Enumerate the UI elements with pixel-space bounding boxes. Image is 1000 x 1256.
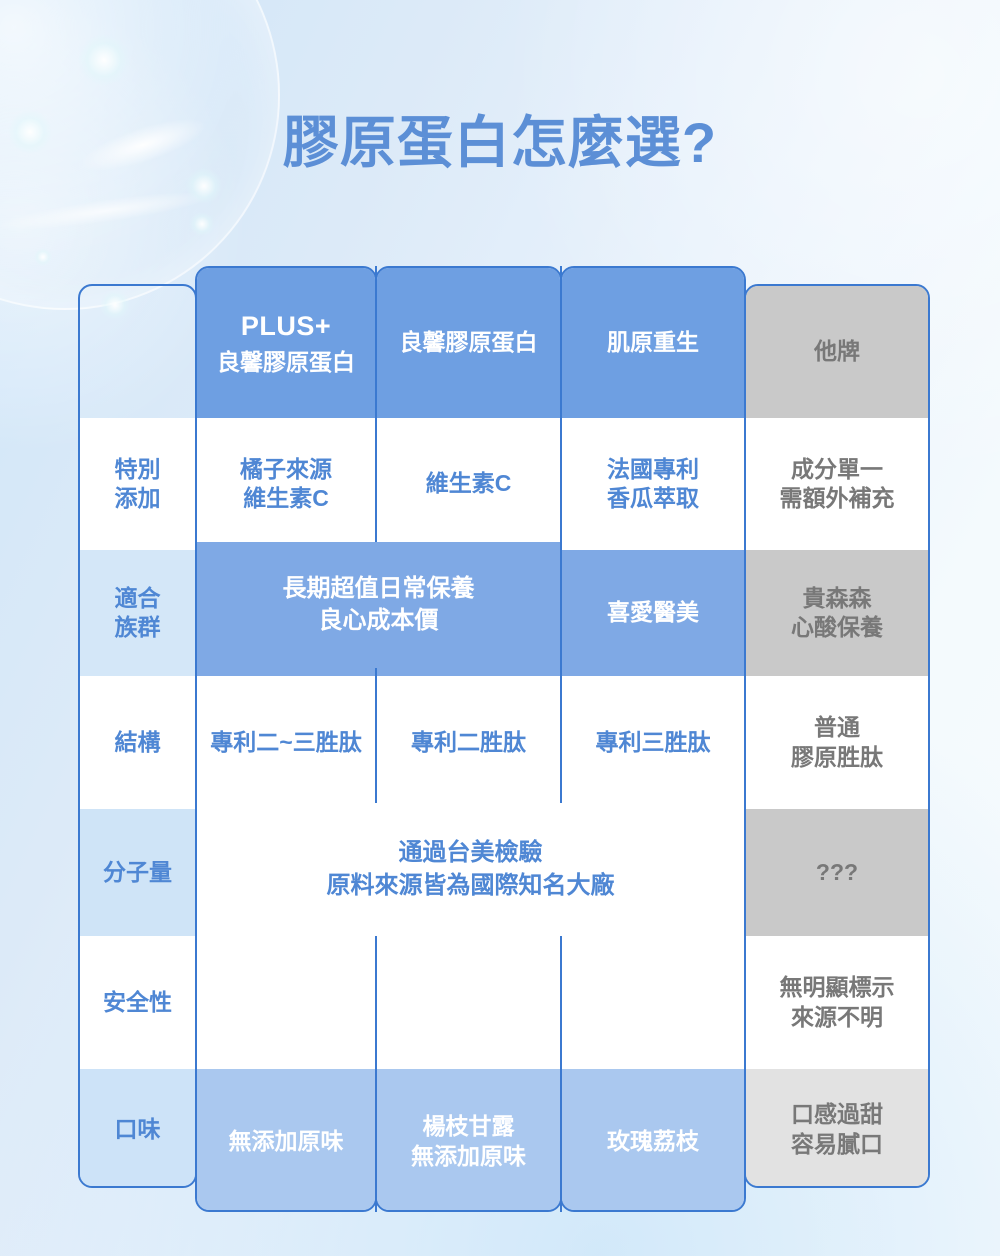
row-label-special-additive: 特別 添加 (80, 418, 195, 550)
cell-plus-structure: 專利二~三胜肽 (197, 676, 375, 809)
cell-other-flavor: 口感過甜 容易膩口 (746, 1069, 928, 1188)
column-divider (560, 936, 562, 1212)
cell-standard-special-additive: 維生素C (377, 418, 560, 550)
row-label-flavor: 口味 (80, 1069, 195, 1188)
cell-other-special-additive: 成分單一 需額外補充 (746, 418, 928, 550)
row-label-safety: 安全性 (80, 936, 195, 1069)
row-label-molecular-weight: 分子量 (80, 809, 195, 936)
sparkle-icon (78, 34, 130, 86)
table-row-label-column: 特別 添加 適合 族群 結構 分子量 安全性 口味 (78, 284, 197, 1188)
cell-jiyuan-structure: 專利三胜肽 (562, 676, 744, 809)
page-title: 膠原蛋白怎麼選? (0, 98, 1000, 179)
cell-jiyuan-safety (562, 936, 744, 1069)
cell-other-structure: 普通 膠原胜肽 (746, 676, 928, 809)
product-column-plus[interactable]: PLUS+ 良馨膠原蛋白 橘子來源 維生素C 專利二~三胜肽 2000Da 無添… (195, 266, 377, 1212)
cell-jiyuan-flavor: 玫瑰荔枝 (562, 1069, 744, 1212)
product-column-jiyuan[interactable]: 肌原重生 法國專利 香瓜萃取 喜愛醫美 專利三胜肽 250-500Da 玫瑰荔枝 (560, 266, 746, 1212)
cell-standard-flavor: 楊枝甘露 無添加原味 (377, 1069, 560, 1212)
row-label-structure: 結構 (80, 676, 195, 809)
product-column-standard-header: 良馨膠原蛋白 (377, 268, 560, 418)
sparkle-icon (190, 212, 214, 236)
cell-other-molecular-weight: ??? (746, 809, 928, 936)
sparkle-icon (34, 248, 52, 266)
cell-other-target-group: 貴森森 心酸保養 (746, 550, 928, 676)
merged-cell-safety-all-products: 通過台美檢驗 原料來源皆為國際知名大廠 (197, 803, 744, 936)
cell-standard-safety (377, 936, 560, 1069)
column-divider (375, 668, 377, 803)
other-brand-column-header: 他牌 (746, 286, 928, 418)
label-column-header (80, 286, 195, 418)
cell-jiyuan-target-group: 喜愛醫美 (562, 550, 744, 676)
cell-jiyuan-special-additive: 法國專利 香瓜萃取 (562, 418, 744, 550)
merged-cell-target-group-plus-standard: 長期超值日常保養 良心成本價 (197, 542, 560, 668)
cell-plus-special-additive: 橘子來源 維生素C (197, 418, 375, 550)
comparison-table: 特別 添加 適合 族群 結構 分子量 安全性 口味 PLUS+ 良馨膠原蛋白 (78, 266, 930, 1212)
column-divider (375, 266, 377, 542)
cell-plus-flavor: 無添加原味 (197, 1069, 375, 1212)
cell-plus-safety (197, 936, 375, 1069)
cell-other-safety: 無明顯標示 來源不明 (746, 936, 928, 1069)
product-column-jiyuan-header: 肌原重生 (562, 268, 744, 418)
cell-standard-structure: 專利二胜肽 (377, 676, 560, 809)
product-column-standard[interactable]: 良馨膠原蛋白 維生素C 專利二胜肽 3000-5000Da 楊枝甘露 無添加原味 (375, 266, 562, 1212)
column-divider (560, 266, 562, 803)
product-column-plus-header: PLUS+ 良馨膠原蛋白 (197, 268, 375, 418)
row-label-target-group: 適合 族群 (80, 550, 195, 676)
column-divider (375, 936, 377, 1212)
other-brand-column[interactable]: 他牌 成分單一 需額外補充 貴森森 心酸保養 普通 膠原胜肽 ??? 無明顯標 (744, 284, 930, 1188)
